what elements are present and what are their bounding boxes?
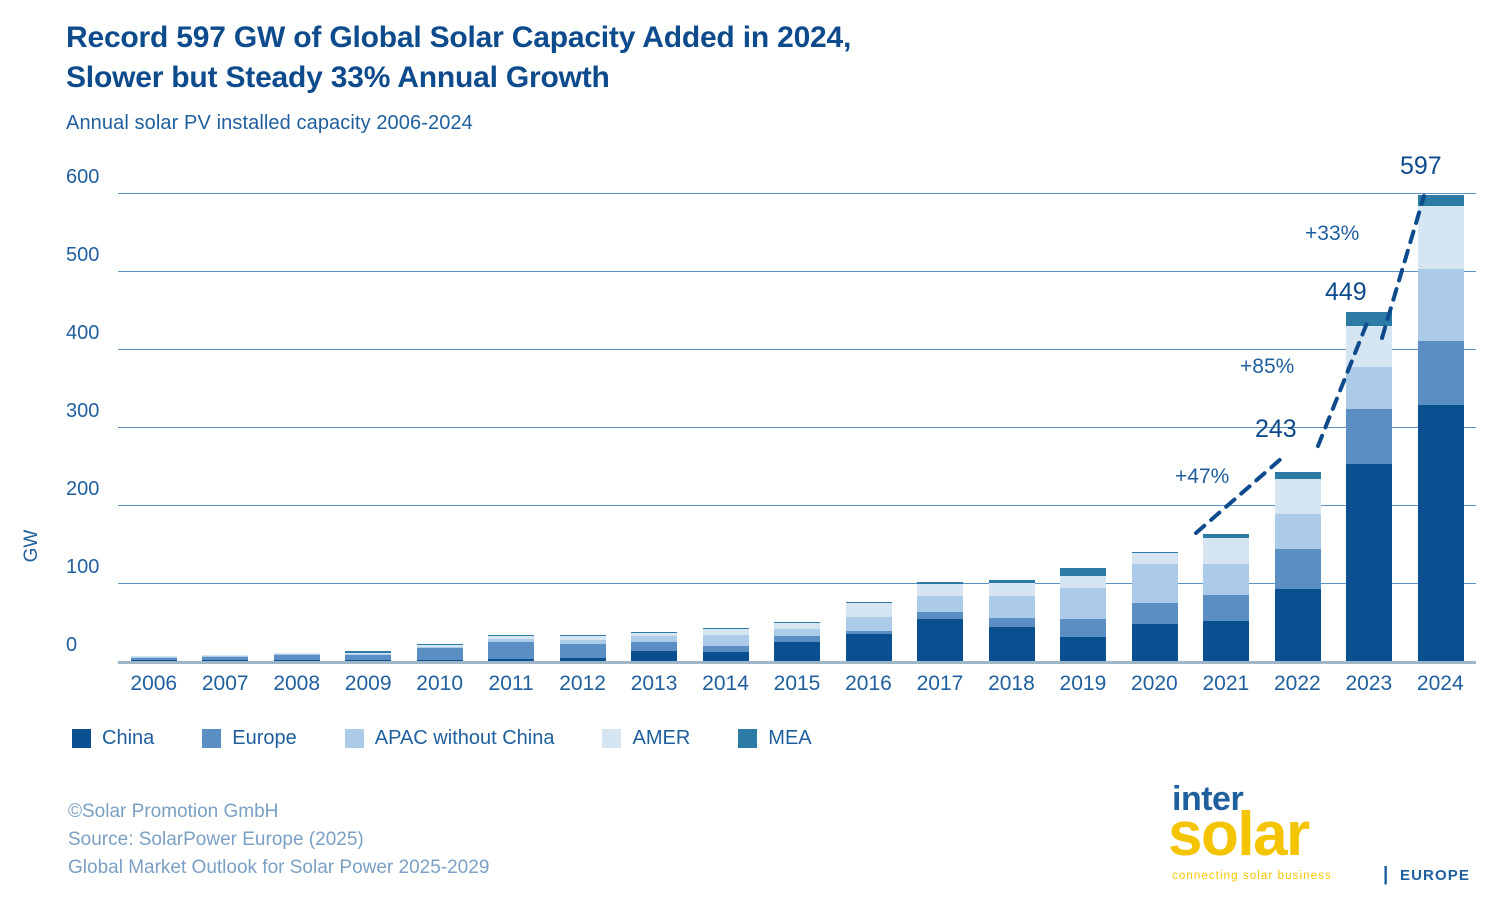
bar-segment-china-2019 (1060, 637, 1106, 661)
stacked-bar-2014[interactable] (703, 628, 749, 661)
bar-slot-2018[interactable] (976, 150, 1048, 661)
bar-segment-amer-2020 (1132, 553, 1178, 563)
x-tick-2024: 2024 (1405, 672, 1477, 696)
x-tick-2008: 2008 (261, 672, 333, 696)
bar-slot-2008[interactable] (261, 150, 333, 661)
stacked-bar-2018[interactable] (989, 580, 1035, 661)
solar-capacity-chart-page: Record 597 GW of Global Solar Capacity A… (0, 0, 1500, 898)
bar-segment-mea-2024 (1418, 195, 1464, 207)
bar-slot-2021[interactable] (1190, 150, 1262, 661)
logo-tagline: connecting solar business (1172, 870, 1332, 882)
bar-segment-amer-2018 (989, 583, 1035, 596)
legend-label: AMER (632, 727, 690, 750)
x-tick-2014: 2014 (690, 672, 762, 696)
x-tick-2018: 2018 (976, 672, 1048, 696)
bar-segment-china-2017 (917, 619, 963, 661)
bar-segment-europe-2012 (560, 644, 606, 658)
bar-slot-2012[interactable] (547, 150, 619, 661)
legend-label: China (102, 727, 154, 750)
bar-segment-amer-2021 (1203, 538, 1249, 564)
chart-header: Record 597 GW of Global Solar Capacity A… (66, 18, 1266, 135)
bar-slot-2009[interactable] (332, 150, 404, 661)
bar-slot-2006[interactable] (118, 150, 190, 661)
x-tick-2013: 2013 (618, 672, 690, 696)
y-tick-200: 200 (66, 478, 120, 501)
y-tick-300: 300 (66, 400, 120, 423)
bar-segment-china-2012 (560, 658, 606, 661)
bar-segment-europe-2018 (989, 618, 1035, 627)
bar-segment-china-2018 (989, 627, 1035, 661)
x-tick-2015: 2015 (761, 672, 833, 696)
bar-segment-china-2006 (131, 660, 177, 661)
stacked-bar-2010[interactable] (417, 644, 463, 661)
x-tick-2019: 2019 (1047, 672, 1119, 696)
bar-segment-mea-2019 (1060, 568, 1106, 576)
bar-slot-2011[interactable] (475, 150, 547, 661)
bar-segment-amer-2016 (846, 603, 892, 617)
bar-segment-amer-2023 (1346, 326, 1392, 367)
bar-segment-europe-2013 (631, 642, 677, 651)
bar-slot-2014[interactable] (690, 150, 762, 661)
bar-segment-china-2016 (846, 634, 892, 661)
page-subtitle: Annual solar PV installed capacity 2006-… (66, 112, 1266, 135)
growth-label-2023-2024: +33% (1305, 222, 1359, 246)
x-tick-2006: 2006 (118, 672, 190, 696)
bar-segment-europe-2020 (1132, 603, 1178, 623)
legend-item-china[interactable]: China (72, 727, 154, 750)
bar-slot-2024[interactable] (1405, 150, 1477, 661)
bar-slot-2019[interactable] (1047, 150, 1119, 661)
y-axis-title: GW (21, 506, 43, 586)
logo-separator: | (1383, 864, 1388, 886)
bar-slot-2016[interactable] (833, 150, 905, 661)
logo-solar-text: solar (1168, 804, 1309, 866)
bar-segment-china-2011 (488, 659, 534, 661)
bar-segment-apac-2014 (703, 635, 749, 647)
bar-segment-apac-2015 (774, 629, 820, 636)
stacked-bar-2016[interactable] (846, 602, 892, 661)
x-tick-2022: 2022 (1262, 672, 1334, 696)
y-tick-100: 100 (66, 556, 120, 579)
bar-segment-europe-2017 (917, 612, 963, 619)
bar-segment-china-2023 (1346, 464, 1392, 661)
bar-segment-apac-2024 (1418, 269, 1464, 341)
legend-label: MEA (768, 727, 811, 750)
stacked-bar-2012[interactable] (560, 635, 606, 661)
x-tick-2007: 2007 (189, 672, 261, 696)
bar-segment-europe-2024 (1418, 341, 1464, 405)
stacked-bar-2017[interactable] (917, 582, 963, 661)
plot-area (118, 150, 1476, 661)
bar-segment-china-2020 (1132, 624, 1178, 661)
x-tick-2012: 2012 (547, 672, 619, 696)
bar-segment-europe-2023 (1346, 409, 1392, 464)
bar-slot-2017[interactable] (904, 150, 976, 661)
stacked-bar-2020[interactable] (1132, 552, 1178, 661)
legend-swatch-icon (72, 729, 91, 748)
x-axis-baseline (118, 661, 1476, 664)
stacked-bar-2022[interactable] (1275, 472, 1321, 662)
bar-slot-2020[interactable] (1119, 150, 1191, 661)
bar-segment-apac-2020 (1132, 564, 1178, 604)
bar-segment-apac-2017 (917, 596, 963, 612)
stacked-bar-2015[interactable] (774, 622, 820, 661)
bar-slot-2015[interactable] (761, 150, 833, 661)
bar-segment-amer-2017 (917, 584, 963, 596)
footer-copyright: ©Solar Promotion GmbH (68, 798, 489, 826)
legend-swatch-icon (602, 729, 621, 748)
bar-slot-2013[interactable] (618, 150, 690, 661)
x-tick-2021: 2021 (1190, 672, 1262, 696)
y-tick-0: 0 (66, 634, 120, 657)
x-tick-2017: 2017 (904, 672, 976, 696)
stacked-bar-2006[interactable] (131, 656, 177, 661)
bar-segment-china-2009 (345, 660, 391, 661)
bar-segment-china-2022 (1275, 589, 1321, 661)
stacked-bar-2011[interactable] (488, 635, 534, 661)
x-tick-2020: 2020 (1119, 672, 1191, 696)
bar-segment-apac-2022 (1275, 514, 1321, 548)
bar-segment-china-2014 (703, 652, 749, 661)
bar-segment-china-2015 (774, 642, 820, 661)
legend-item-amer[interactable]: AMER (602, 727, 690, 750)
bar-slot-2007[interactable] (189, 150, 261, 661)
y-tick-400: 400 (66, 322, 120, 345)
bar-segment-mea-2022 (1275, 472, 1321, 480)
legend-item-apac-without-china[interactable]: APAC without China (345, 727, 555, 750)
legend-label: Europe (232, 727, 297, 750)
bar-segment-china-2021 (1203, 621, 1249, 661)
stacked-bar-2021[interactable] (1203, 534, 1249, 661)
legend-item-mea[interactable]: MEA (738, 727, 811, 750)
bar-segment-mea-2023 (1346, 312, 1392, 326)
bar-value-label-2022: 243 (1255, 415, 1297, 444)
bar-segment-amer-2024 (1418, 206, 1464, 269)
bar-segment-apac-2023 (1346, 367, 1392, 409)
bar-segment-china-2007 (202, 660, 248, 661)
stacked-bar-2009[interactable] (345, 651, 391, 661)
bar-segment-apac-2019 (1060, 588, 1106, 619)
bar-segment-apac-2021 (1203, 564, 1249, 595)
bar-segment-europe-2021 (1203, 595, 1249, 622)
growth-label-2022-2023: +85% (1240, 355, 1294, 379)
chart-area: GW 6005004003002001000 20062007200820092… (0, 150, 1500, 710)
y-tick-600: 600 (66, 166, 120, 189)
page-title: Record 597 GW of Global Solar Capacity A… (66, 18, 1266, 98)
bar-segment-amer-2019 (1060, 576, 1106, 588)
bar-slot-2010[interactable] (404, 150, 476, 661)
footer-report: Global Market Outlook for Solar Power 20… (68, 854, 489, 882)
bar-segment-apac-2018 (989, 596, 1035, 618)
stacked-bar-2008[interactable] (274, 653, 320, 661)
bar-segment-europe-2011 (488, 642, 534, 660)
legend-swatch-icon (202, 729, 221, 748)
bar-segment-apac-2016 (846, 617, 892, 631)
intersolar-europe-logo: inter solar connecting solar business | … (1164, 780, 1454, 884)
legend-item-europe[interactable]: Europe (202, 727, 297, 750)
legend-label: APAC without China (375, 727, 555, 750)
chart-legend: ChinaEuropeAPAC without ChinaAMERMEA (72, 727, 860, 750)
x-tick-2023: 2023 (1333, 672, 1405, 696)
stacked-bar-2013[interactable] (631, 632, 677, 661)
footer-source: Source: SolarPower Europe (2025) (68, 826, 489, 854)
bar-segment-china-2008 (274, 660, 320, 661)
growth-label-2021-2022: +47% (1175, 465, 1229, 489)
stacked-bar-2023[interactable] (1346, 312, 1392, 661)
bar-value-label-2024: 597 (1400, 152, 1442, 181)
x-tick-2010: 2010 (404, 672, 476, 696)
footer-credits: ©Solar Promotion GmbH Source: SolarPower… (68, 798, 489, 882)
bar-segment-china-2013 (631, 651, 677, 661)
stacked-bar-2019[interactable] (1060, 568, 1106, 661)
bar-segment-europe-2019 (1060, 619, 1106, 637)
bar-segment-europe-2010 (417, 648, 463, 660)
bar-segment-europe-2022 (1275, 549, 1321, 590)
x-tick-2011: 2011 (475, 672, 547, 696)
logo-region-text: EUROPE (1400, 867, 1470, 884)
bar-value-label-2023: 449 (1325, 278, 1367, 307)
legend-swatch-icon (738, 729, 757, 748)
stacked-bar-2024[interactable] (1418, 195, 1464, 661)
bar-segment-amer-2022 (1275, 479, 1321, 514)
y-tick-500: 500 (66, 244, 120, 267)
legend-swatch-icon (345, 729, 364, 748)
bar-segment-china-2010 (417, 660, 463, 661)
bar-segment-china-2024 (1418, 405, 1464, 661)
x-tick-2016: 2016 (833, 672, 905, 696)
stacked-bar-2007[interactable] (202, 655, 248, 661)
x-tick-2009: 2009 (332, 672, 404, 696)
